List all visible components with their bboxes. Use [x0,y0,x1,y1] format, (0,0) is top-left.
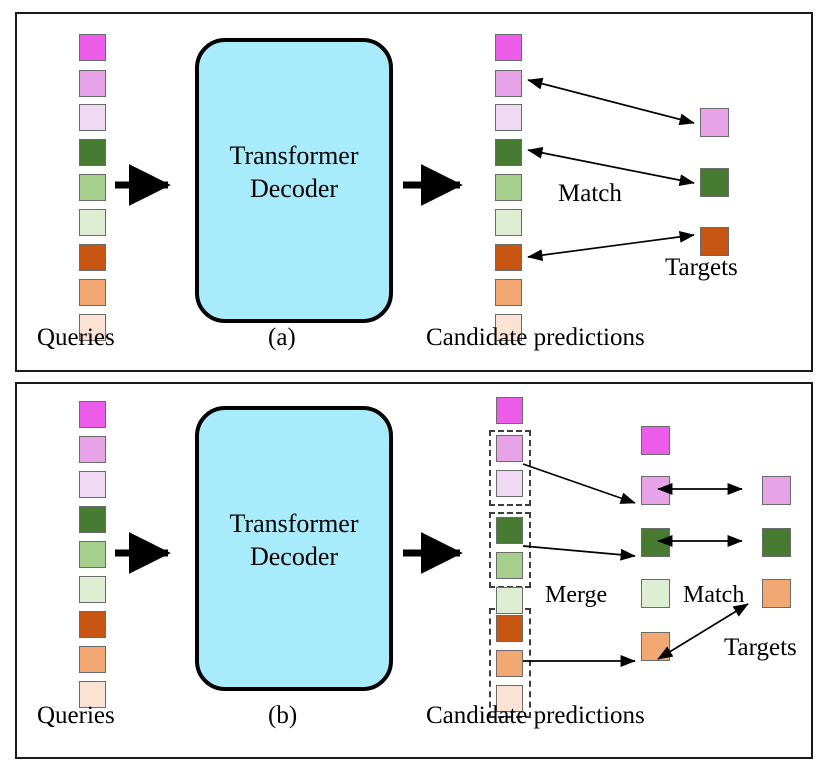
panel-b-merged-green-light [641,579,670,608]
panel-a-candidate-8 [495,279,522,306]
panel-a-query-7 [79,244,106,271]
panel-b: Transformer Decoder Queries (b) Candid [15,382,813,759]
panel-a-query-6 [79,209,106,236]
panel-b-query-4 [79,506,106,533]
panel-a-query-5 [79,174,106,201]
panel-a-query-2 [79,70,106,97]
panel-b-query-7 [79,611,106,638]
panel-a-candidates-label: Candidate predictions [426,324,645,352]
panel-b-merged-orange [641,632,670,661]
panel-b-candidates-label: Candidate predictions [426,702,645,730]
panel-a-target-pink [700,108,729,137]
panel-b-caption: (b) [268,702,297,730]
panel-b-target-orange [762,579,791,608]
panel-b-queries-label: Queries [37,702,115,730]
panel-b-query-5 [79,541,106,568]
panel-b-candidate-1 [496,397,523,424]
panel-b-candidate-2 [496,435,523,462]
panel-a-candidate-6 [495,209,522,236]
panel-a-query-3 [79,104,106,131]
panel-a-target-green [700,168,729,197]
panel-b-candidate-6 [496,587,523,614]
panel-b-merge-label: Merge [545,582,607,609]
panel-b-merged-green [641,528,670,557]
panel-b-query-8 [79,646,106,673]
panel-b-candidate-8 [496,650,523,677]
panel-b-target-green [762,528,791,557]
panel-a-match-label: Match [558,180,622,208]
panel-a-caption: (a) [268,324,296,352]
panel-b-query-1 [79,401,106,428]
panel-a-transformer-decoder: Transformer Decoder [195,38,393,323]
panel-b-transformer-decoder: Transformer Decoder [195,406,393,691]
panel-b-match-label: Match [683,582,744,609]
panel-b-decoder-label-line1: Transformer [229,509,358,538]
panel-a-decoder-label-line1: Transformer [229,141,358,170]
panel-b-candidate-4 [496,517,523,544]
panel-a-candidate-7 [495,244,522,271]
panel-b-candidate-3 [496,470,523,497]
panel-b-query-2 [79,436,106,463]
panel-a-query-8 [79,279,106,306]
panel-a-target-orange [700,227,729,256]
panel-a-queries-label: Queries [37,324,115,352]
panel-a-decoder-label-line2: Decoder [250,174,338,203]
figure-root: Transformer Decoder Queries (a) Candidat… [0,0,830,771]
panel-a-candidate-3 [495,104,522,131]
panel-a-query-4 [79,139,106,166]
panel-b-merged-magenta [641,426,670,455]
panel-b-merged-pink [641,476,670,505]
panel-a-candidate-4 [495,139,522,166]
panel-a-query-1 [79,34,106,61]
panel-b-query-6 [79,576,106,603]
panel-b-query-3 [79,471,106,498]
panel-b-candidate-7 [496,615,523,642]
panel-a-candidate-5 [495,174,522,201]
panel-b-targets-label: Targets [724,634,797,662]
panel-a-targets-label: Targets [665,254,738,282]
panel-b-target-pink [762,476,791,505]
panel-b-decoder-label-line2: Decoder [250,542,338,571]
panel-b-candidate-5 [496,552,523,579]
panel-a-candidate-1 [495,34,522,61]
panel-a-candidate-2 [495,70,522,97]
panel-a: Transformer Decoder Queries (a) Candidat… [15,12,813,372]
